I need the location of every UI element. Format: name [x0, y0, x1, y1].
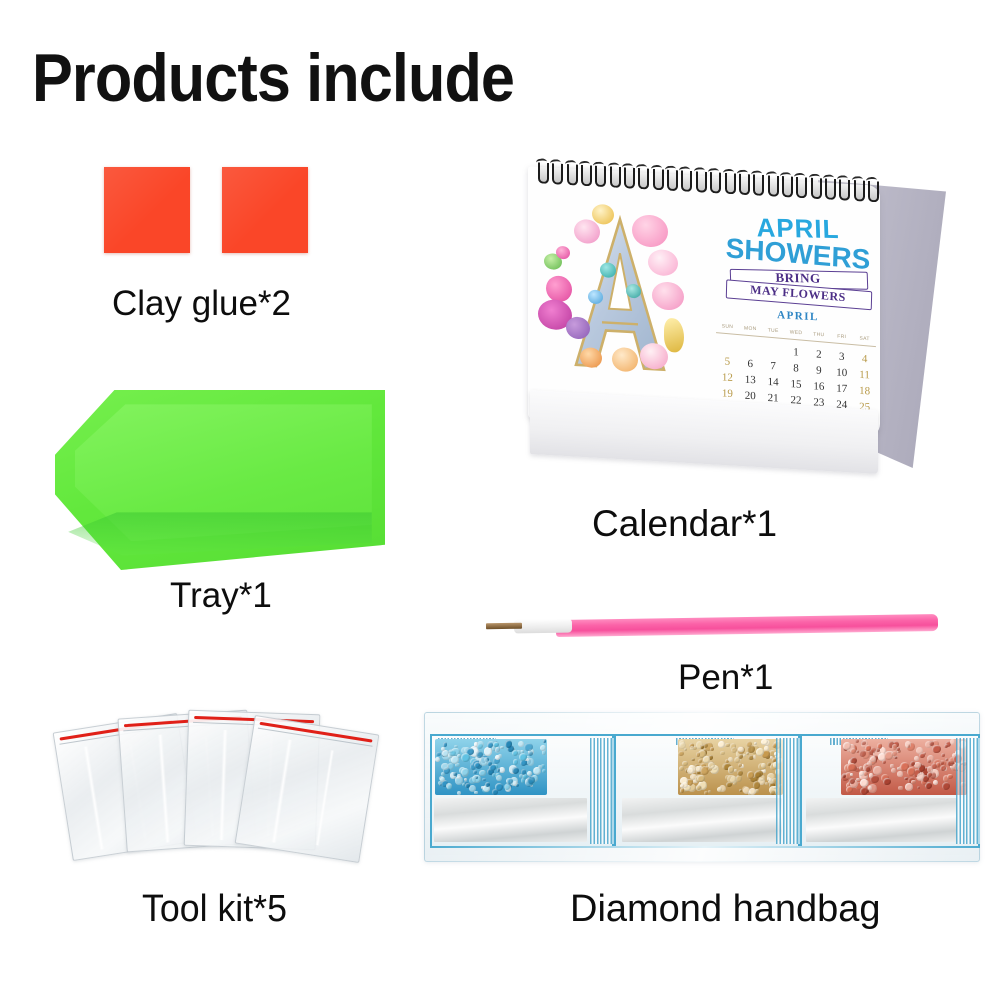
- diamond-handbag-label: Diamond handbag: [570, 890, 881, 928]
- bloom-magenta-3: [556, 246, 570, 260]
- rhinestone: [914, 762, 921, 769]
- rhinestone: [512, 750, 518, 756]
- calendar-day-17: 17: [830, 382, 853, 399]
- weekday-header-tue: TUE: [762, 327, 785, 334]
- rhinestone: [698, 759, 702, 763]
- rhinestone: [933, 780, 938, 785]
- clay-glue-label: Clay glue*2: [112, 286, 291, 321]
- rhinestone: [859, 771, 864, 776]
- clay-glue-square-2: [222, 167, 308, 253]
- rhinestone: [767, 762, 771, 766]
- calendar-day-empty: [762, 344, 785, 361]
- rhinestone: [931, 763, 937, 769]
- calendar-headline: APRIL SHOWERS BRING MAY FLOWERS APRIL: [724, 213, 872, 317]
- spiral-coil-top: [779, 172, 791, 180]
- spiral-coil-top: [636, 164, 648, 172]
- spiral-coil-top: [808, 173, 820, 181]
- rhinestone: [728, 757, 733, 762]
- rhinestone: [477, 743, 483, 749]
- spiral-coil-top: [736, 169, 748, 177]
- bloom-gold-1: [592, 204, 614, 225]
- tray-label: Tray*1: [170, 578, 272, 613]
- rhinestone: [691, 758, 694, 761]
- rhinestone: [737, 770, 743, 776]
- bloom-orange-2: [580, 347, 602, 368]
- spiral-coil-top: [579, 161, 591, 169]
- rhinestone: [469, 777, 476, 784]
- cell-zip-column: [776, 738, 800, 844]
- rhinestone: [765, 782, 768, 785]
- red-stones: [841, 739, 968, 795]
- cell-foil-label: [622, 798, 782, 842]
- weekday-header-wed: WED: [785, 329, 808, 336]
- rhinestone: [495, 783, 503, 791]
- spiral-coil-top: [722, 169, 734, 177]
- cell-foil-label: [806, 798, 957, 842]
- calendar-day-2: 2: [807, 348, 830, 365]
- cell-foil-label: [434, 798, 587, 842]
- rhinestone: [473, 770, 477, 774]
- rhinestone: [451, 756, 459, 764]
- rhinestone: [865, 766, 870, 771]
- desk-calendar: APRIL SHOWERS BRING MAY FLOWERS APRIL SU…: [520, 168, 940, 498]
- spiral-coil-top: [866, 177, 878, 185]
- spiral-coil-top: [650, 165, 662, 173]
- rhinestone: [684, 748, 687, 751]
- spiral-coil-top: [765, 171, 777, 179]
- spiral-coil-top: [536, 158, 548, 166]
- calendar-day-11: 11: [853, 369, 876, 386]
- weekday-header-fri: FRI: [830, 333, 853, 340]
- rhinestone: [870, 775, 879, 784]
- bag-crease: [271, 739, 292, 843]
- bloom-magenta-1: [546, 275, 572, 302]
- pen-barrel: [556, 614, 938, 637]
- spiral-coil-top: [679, 166, 691, 174]
- spiral-coil-top: [622, 163, 634, 171]
- bloom-teal-1: [600, 262, 616, 278]
- rhinestone: [882, 760, 886, 764]
- calendar-day-6: 6: [739, 357, 762, 374]
- bag-crease: [219, 730, 228, 840]
- rhinestone: [680, 784, 684, 788]
- rhinestone: [942, 782, 950, 790]
- cell-zip-column: [590, 738, 614, 844]
- rhinestone: [907, 744, 910, 747]
- calendar-day-12: 12: [716, 371, 739, 388]
- rhinestone: [690, 746, 694, 750]
- rhinestone: [850, 748, 856, 754]
- rhinestone: [910, 761, 915, 766]
- rhinestone: [728, 766, 734, 772]
- rhinestone: [738, 754, 743, 759]
- rhinestone: [725, 743, 729, 747]
- rhinestone: [731, 747, 737, 753]
- rhinestone: [513, 781, 518, 786]
- spiral-coil-top: [794, 173, 806, 181]
- rhinestone: [441, 763, 448, 770]
- rhinestone: [697, 775, 704, 782]
- spiral-coil-top: [708, 168, 720, 176]
- tool-kit-bags: [62, 706, 372, 866]
- rhinestone: [461, 753, 470, 762]
- rhinestone: [892, 744, 898, 750]
- rhinestone: [947, 774, 952, 779]
- rhinestone: [769, 778, 772, 781]
- calendar-day-3: 3: [830, 350, 853, 367]
- spiral-coil-top: [851, 176, 863, 184]
- rhinestone: [944, 744, 948, 748]
- rhinestone: [867, 761, 872, 766]
- calendar-day-5: 5: [716, 355, 739, 372]
- weekday-header-thu: THU: [807, 331, 830, 338]
- rhinestone: [542, 769, 546, 773]
- rhinestone: [538, 765, 542, 769]
- rhinestone: [495, 747, 501, 753]
- rhinestone: [850, 773, 853, 776]
- bloom-blue-1: [588, 290, 603, 305]
- rhinestone: [496, 775, 503, 782]
- calendar-day-15: 15: [785, 378, 808, 395]
- rhinestone: [457, 791, 461, 795]
- rhinestone: [487, 742, 493, 748]
- spiral-coil-top: [823, 174, 835, 182]
- rhinestone: [479, 757, 488, 766]
- weekday-header-sun: SUN: [716, 323, 739, 330]
- calendar-day-13: 13: [739, 373, 762, 390]
- rhinestone: [932, 745, 940, 753]
- product-infographic: Products include Clay glue*2 Tray*1: [0, 0, 1001, 1001]
- spiral-coil-top: [550, 159, 562, 167]
- tool-kit-label: Tool kit*5: [142, 890, 287, 928]
- calendar-day-9: 9: [807, 364, 830, 381]
- calendar-day-16: 16: [807, 380, 830, 397]
- rhinestone: [907, 767, 915, 775]
- spiral-coil-top: [665, 165, 677, 173]
- rhinestone: [753, 755, 756, 758]
- rhinestone: [847, 763, 855, 771]
- rhinestone: [883, 778, 891, 786]
- ziplock-bag-4: [235, 715, 380, 863]
- rhinestone: [543, 739, 546, 742]
- rhinestone: [513, 759, 518, 764]
- rhinestone: [512, 767, 519, 774]
- calendar-day-8: 8: [785, 362, 808, 379]
- calendar-day-10: 10: [830, 366, 853, 383]
- gold-stones: [678, 739, 784, 795]
- rhinestone: [678, 751, 683, 756]
- diamond-cell-1: [430, 734, 614, 848]
- rhinestone: [680, 788, 685, 793]
- rhinestone: [492, 773, 496, 777]
- green-tray: [55, 390, 385, 570]
- rhinestone: [905, 783, 913, 791]
- rhinestone: [474, 791, 478, 795]
- rhinestone: [865, 745, 870, 750]
- bag-crease: [158, 735, 171, 843]
- rhinestone: [897, 771, 903, 777]
- rhinestone: [720, 751, 725, 756]
- drill-pen: [468, 613, 938, 643]
- rhinestone: [447, 784, 453, 790]
- bloom-teal-2: [626, 284, 641, 299]
- rhinestone: [876, 748, 880, 752]
- rhinestone: [904, 777, 907, 780]
- rhinestone: [499, 767, 505, 773]
- rhinestone: [696, 752, 700, 756]
- rhinestone: [855, 739, 859, 743]
- calendar-day-7: 7: [762, 360, 785, 377]
- rhinestone: [770, 790, 774, 794]
- rhinestone: [914, 756, 919, 761]
- rhinestone: [708, 790, 711, 793]
- rhinestone: [527, 758, 534, 765]
- rhinestone: [726, 782, 732, 788]
- rhinestone: [927, 772, 932, 777]
- diamond-cell-3: [800, 734, 980, 848]
- bag-crease: [83, 746, 104, 850]
- pen-tip-housing: [514, 618, 572, 633]
- rhinestone: [927, 759, 931, 763]
- rhinestone: [679, 766, 684, 771]
- rhinestone: [524, 743, 532, 751]
- pen-metal-tip: [486, 623, 522, 630]
- calendar-day-18: 18: [853, 385, 876, 402]
- bloom-pink-4: [574, 219, 600, 244]
- rhinestone: [761, 763, 766, 768]
- spiral-coil-top: [693, 167, 705, 175]
- bag-crease: [316, 750, 335, 845]
- spiral-coil-top: [564, 160, 576, 168]
- rhinestone: [504, 784, 510, 790]
- rhinestone: [941, 753, 945, 757]
- rhinestone: [710, 747, 714, 751]
- rhinestone: [950, 739, 955, 744]
- spiral-coil-top: [751, 170, 763, 178]
- blue-stones: [435, 739, 547, 795]
- rhinestone: [435, 757, 440, 762]
- bloom-purple-1: [566, 316, 590, 339]
- rhinestone: [440, 777, 445, 782]
- diamond-art-letter-a: [536, 187, 704, 396]
- rhinestone: [700, 745, 703, 748]
- calendar-day-14: 14: [762, 376, 785, 393]
- bag-zip-strip: [259, 722, 372, 742]
- diamond-cell-2: [614, 734, 800, 848]
- rhinestone: [718, 741, 726, 749]
- rhinestone: [484, 747, 493, 756]
- page-title: Products include: [32, 44, 514, 112]
- calendar-day-empty: [716, 339, 739, 356]
- rhinestone: [528, 751, 533, 756]
- calendar-day-1: 1: [785, 346, 808, 363]
- spiral-coil-top: [593, 161, 605, 169]
- rhinestone: [449, 750, 456, 757]
- rhinestone: [868, 786, 872, 790]
- pen-label: Pen*1: [678, 660, 773, 695]
- rhinestone: [457, 774, 462, 779]
- rhinestone: [682, 761, 687, 766]
- rhinestone: [497, 768, 500, 771]
- diamond-handbag: [424, 712, 980, 862]
- spiral-coil-top: [837, 175, 849, 183]
- cell-zip-column: [956, 738, 980, 844]
- calendar-banner-ribbon: BRING MAY FLOWERS: [724, 266, 872, 310]
- rhinestone: [461, 768, 469, 776]
- clay-glue-square-1: [104, 167, 190, 253]
- calendar-label: Calendar*1: [592, 505, 777, 542]
- rhinestone: [479, 770, 485, 776]
- rhinestone: [465, 783, 470, 788]
- rhinestone: [917, 786, 920, 789]
- rhinestone: [898, 786, 902, 790]
- rhinestone: [873, 766, 881, 774]
- bloom-orange-1: [612, 347, 638, 372]
- rhinestone: [485, 782, 490, 787]
- rhinestone: [891, 768, 896, 773]
- calendar-day-4: 4: [853, 353, 876, 370]
- rhinestone: [500, 746, 504, 750]
- rhinestone: [696, 785, 701, 790]
- rhinestone: [859, 750, 866, 757]
- calendar-day-empty: [739, 341, 762, 358]
- weekday-header-mon: MON: [739, 325, 762, 332]
- spiral-coil-top: [607, 162, 619, 170]
- weekday-header-sat: SAT: [853, 335, 876, 342]
- rhinestone: [859, 766, 863, 770]
- rhinestone: [482, 778, 486, 782]
- rhinestone: [743, 754, 746, 757]
- rhinestone: [495, 755, 500, 760]
- rhinestone: [749, 788, 756, 795]
